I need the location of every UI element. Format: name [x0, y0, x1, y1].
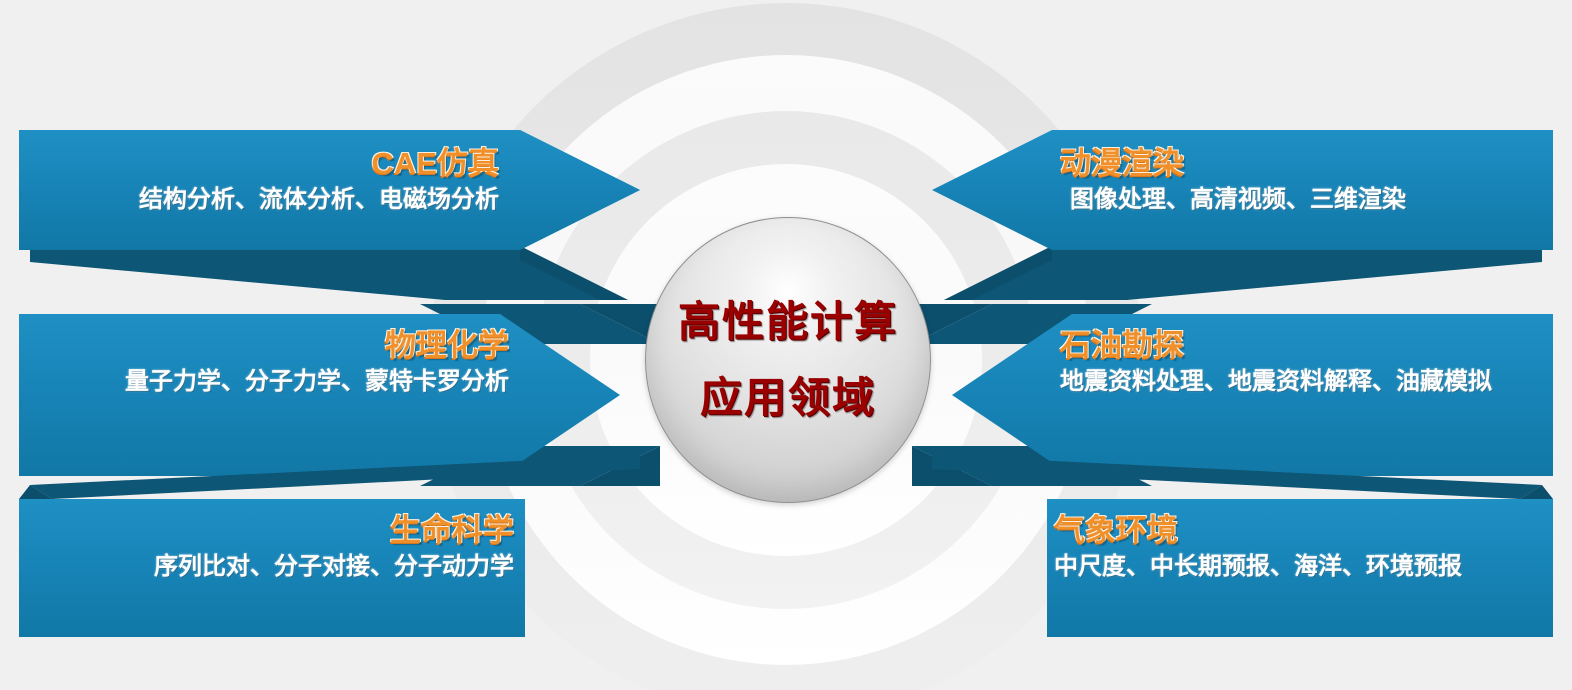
arrow-left-lifesci-face — [19, 499, 525, 637]
arrow-right-anim[interactable]: 动漫渲染 图像处理、高清视频、三维渲染 — [932, 120, 1572, 300]
arrow-right-anim-face — [932, 130, 1553, 250]
center-title-line2: 应用领域 — [700, 377, 876, 419]
arrow-left-lifesci-bevel — [30, 455, 640, 499]
arrow-right-meteo-bevel — [932, 455, 1542, 499]
arrow-right-meteo[interactable]: 气象环境 中尺度、中长期预报、海洋、环境预报 — [932, 455, 1572, 650]
diagram-canvas: CAE仿真 结构分析、流体分析、电磁场分析 物理化学 量子力学、分子力学、蒙 — [0, 0, 1572, 690]
arrow-left-lifesci[interactable]: 生命科学 序列比对、分子对接、分子动力学 — [0, 455, 640, 650]
arrow-left-physchem-face — [19, 314, 620, 476]
arrow-left-cae-face-gradient — [19, 130, 640, 250]
arrow-left-cae[interactable]: CAE仿真 结构分析、流体分析、电磁场分析 — [0, 120, 640, 300]
center-circle[interactable]: 高性能计算 应用领域 — [645, 217, 931, 503]
arrow-right-meteo-face — [1047, 499, 1553, 637]
center-title-line1: 高性能计算 — [678, 301, 898, 343]
arrow-right-oil-face — [952, 314, 1553, 476]
